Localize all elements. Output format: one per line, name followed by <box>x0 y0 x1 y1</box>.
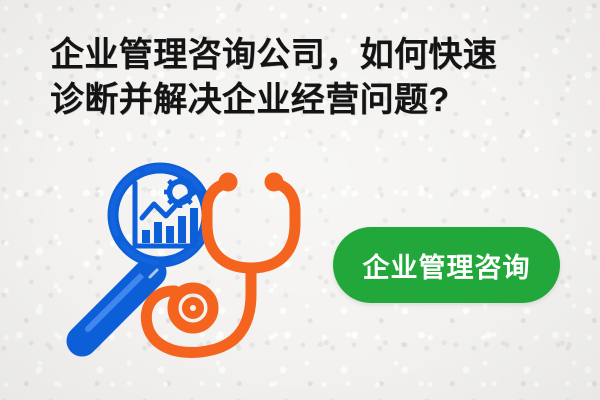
gear-icon <box>164 176 196 208</box>
headline-line-1: 企业管理咨询公司，如何快速 <box>50 33 560 78</box>
stethoscope-chest-ring <box>173 288 213 328</box>
stethoscope-diaphragm <box>186 301 200 315</box>
poster-canvas: 企业管理咨询公司，如何快速 诊断并解决企业经营问题? <box>0 0 600 400</box>
headline-line-2: 诊断并解决企业经营问题? <box>50 78 560 123</box>
cta-button-label: 企业管理咨询 <box>363 246 531 285</box>
chart-bar <box>154 222 162 243</box>
enterprise-consulting-cta-button[interactable]: 企业管理咨询 <box>333 227 560 303</box>
chart-bar <box>166 226 174 243</box>
stethoscope-left-tube <box>207 184 225 224</box>
chart-bar <box>178 216 186 243</box>
stethoscope-yoke <box>207 224 295 268</box>
illustration-group <box>55 158 325 368</box>
stethoscope-right-tube <box>277 184 295 224</box>
chart-bar <box>190 208 198 243</box>
stethoscope-left-earpiece <box>219 173 238 192</box>
stethoscope-right-earpiece <box>265 173 284 192</box>
headline: 企业管理咨询公司，如何快速 诊断并解决企业经营问题? <box>50 33 560 123</box>
chart-bar <box>142 230 150 243</box>
